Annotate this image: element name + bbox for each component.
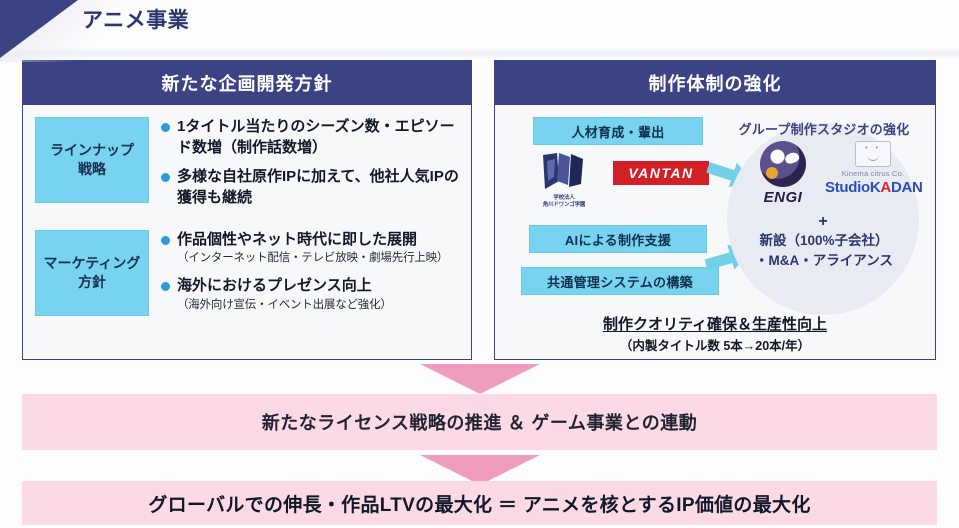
kadan-a: A — [880, 179, 891, 196]
kadokawa-caption-line1: 学校法人 — [553, 195, 574, 201]
kadokawa-caption-line2: 角川ドワンゴ学園 — [543, 202, 585, 208]
tag-lineup-strategy: ラインナップ 戦略 — [35, 117, 149, 203]
bullet-dot-icon — [161, 123, 170, 132]
bullet-item: 1タイトル当たりのシーズン数・エピソード数増（制作話数増） — [161, 117, 461, 158]
chip-ai-production-support: AIによる制作支援 — [529, 225, 707, 253]
engi-wordmark: ENGI — [743, 189, 823, 206]
production-quality-text: 制作クオリティ確保＆生産性向上 — [603, 316, 827, 333]
page-title: アニメ事業 — [82, 4, 189, 34]
kadan-prefix: Studio — [825, 179, 870, 196]
production-quality-subtext: （内製タイトル数 5本→20本/年） — [495, 335, 935, 354]
bullet-item: 多様な自社原作IPに加えて、他社人気IPの獲得も継続 — [161, 167, 461, 208]
new-subsidiary-text: 新設（100%子会社） ・M&A・アライアンス — [717, 231, 931, 270]
engi-logo: ENGI — [743, 141, 823, 206]
bullet-subtext: （インターネット配信・テレビ放映・劇場先行上映） — [177, 251, 448, 267]
studio-kadan-wordmark: StudioKADAN — [825, 179, 921, 196]
panel-right-header: 制作体制の強化 — [495, 61, 935, 105]
kadokawa-caption: 学校法人 角川ドワンゴ学園 — [527, 195, 601, 209]
tag-marketing-line2: 方針 — [78, 274, 106, 290]
row-marketing-policy: マーケティング 方針 作品個性やネット時代に即した展開 （インターネット配信・テ… — [23, 218, 471, 323]
down-arrow-icon — [420, 364, 540, 394]
bullet-dot-icon — [161, 236, 170, 245]
chip-talent-development: 人材育成・輩出 — [533, 117, 703, 145]
kinema-kadan-logos: Kinema citrus Co. StudioKADAN — [825, 141, 921, 196]
band-global-growth: グローバルでの伸長・作品LTVの最大化 ＝ アニメを核とするIP価値の最大化 — [22, 481, 937, 525]
bullet-dot-icon — [161, 173, 170, 182]
panel-new-planning-policy: 新たな企画開発方針 ラインナップ 戦略 1タイトル当たりのシーズン数・エピソード… — [22, 60, 472, 360]
slide-canvas: アニメ事業 新たな企画開発方針 ラインナップ 戦略 1タイトル当たりのシーズン数… — [0, 0, 959, 528]
kadokawa-mark-icon — [537, 151, 591, 193]
kadokawa-dwango-logo: 学校法人 角川ドワンゴ学園 — [527, 151, 601, 213]
band-license-strategy: 新たなライセンス戦略の推進 ＆ ゲーム事業との連動 — [22, 394, 937, 450]
new-subsidiary-line2: ・M&A・アライアンス — [755, 253, 893, 268]
bullet-subtext: （海外向け宣伝・イベント出展など強化） — [177, 298, 392, 314]
kinema-citrus-wordmark: Kinema citrus Co. — [825, 169, 921, 178]
bullet-text: 作品個性やネット時代に即した展開 — [177, 231, 417, 248]
chip-common-management-system: 共通管理システムの構築 — [521, 267, 719, 295]
new-subsidiary-line1: 新設（100%子会社） — [759, 233, 888, 248]
kadan-k: K — [870, 179, 881, 196]
tag-marketing-policy: マーケティング 方針 — [35, 230, 149, 316]
band-global-growth-text: グローバルでの伸長・作品LTVの最大化 ＝ アニメを核とするIP価値の最大化 — [148, 490, 810, 517]
row-lineup-strategy: ラインナップ 戦略 1タイトル当たりのシーズン数・エピソード数増（制作話数増） … — [23, 105, 471, 218]
bullet-text: 海外におけるプレゼンス向上 — [177, 277, 372, 294]
studio-group-heading: グループ制作スタジオの強化 — [719, 119, 929, 138]
kadan-suffix: DAN — [891, 179, 923, 196]
bullets-marketing: 作品個性やネット時代に即した展開 （インターネット配信・テレビ放映・劇場先行上映… — [149, 230, 461, 323]
panel-production-system: 制作体制の強化 人材育成・輩出 AIによる制作支援 共通管理システムの構築 学校… — [494, 60, 936, 360]
vantan-logo: VANTAN — [613, 161, 709, 185]
tag-lineup-line2: 戦略 — [78, 161, 106, 177]
bullet-item: 作品個性やネット時代に即した展開 （インターネット配信・テレビ放映・劇場先行上映… — [161, 230, 461, 268]
panel-right-body: 人材育成・輩出 AIによる制作支援 共通管理システムの構築 学校法人 角川ドワン… — [495, 105, 935, 359]
bullet-text: 多様な自社原作IPに加えて、他社人気IPの獲得も継続 — [177, 167, 461, 208]
kinema-citrus-face-icon — [855, 141, 891, 167]
bullet-dot-icon — [161, 282, 170, 291]
panel-left-body: ラインナップ 戦略 1タイトル当たりのシーズン数・エピソード数増（制作話数増） … — [23, 105, 471, 359]
engi-emblem-icon — [760, 141, 806, 187]
plus-sign: + — [727, 213, 919, 231]
bullet-text: 1タイトル当たりのシーズン数・エピソード数増（制作話数増） — [177, 117, 461, 158]
bullets-lineup: 1タイトル当たりのシーズン数・エピソード数増（制作話数増） 多様な自社原作IPに… — [149, 117, 461, 218]
tag-lineup-line1: ラインナップ — [50, 142, 134, 158]
production-quality-statement: 制作クオリティ確保＆生産性向上 — [495, 313, 935, 334]
bullet-item: 海外におけるプレゼンス向上 （海外向け宣伝・イベント出展など強化） — [161, 276, 461, 314]
tag-marketing-line1: マーケティング — [44, 255, 141, 271]
panel-left-header: 新たな企画開発方針 — [23, 61, 471, 105]
band-license-strategy-text: 新たなライセンス戦略の推進 ＆ ゲーム事業との連動 — [262, 409, 697, 435]
